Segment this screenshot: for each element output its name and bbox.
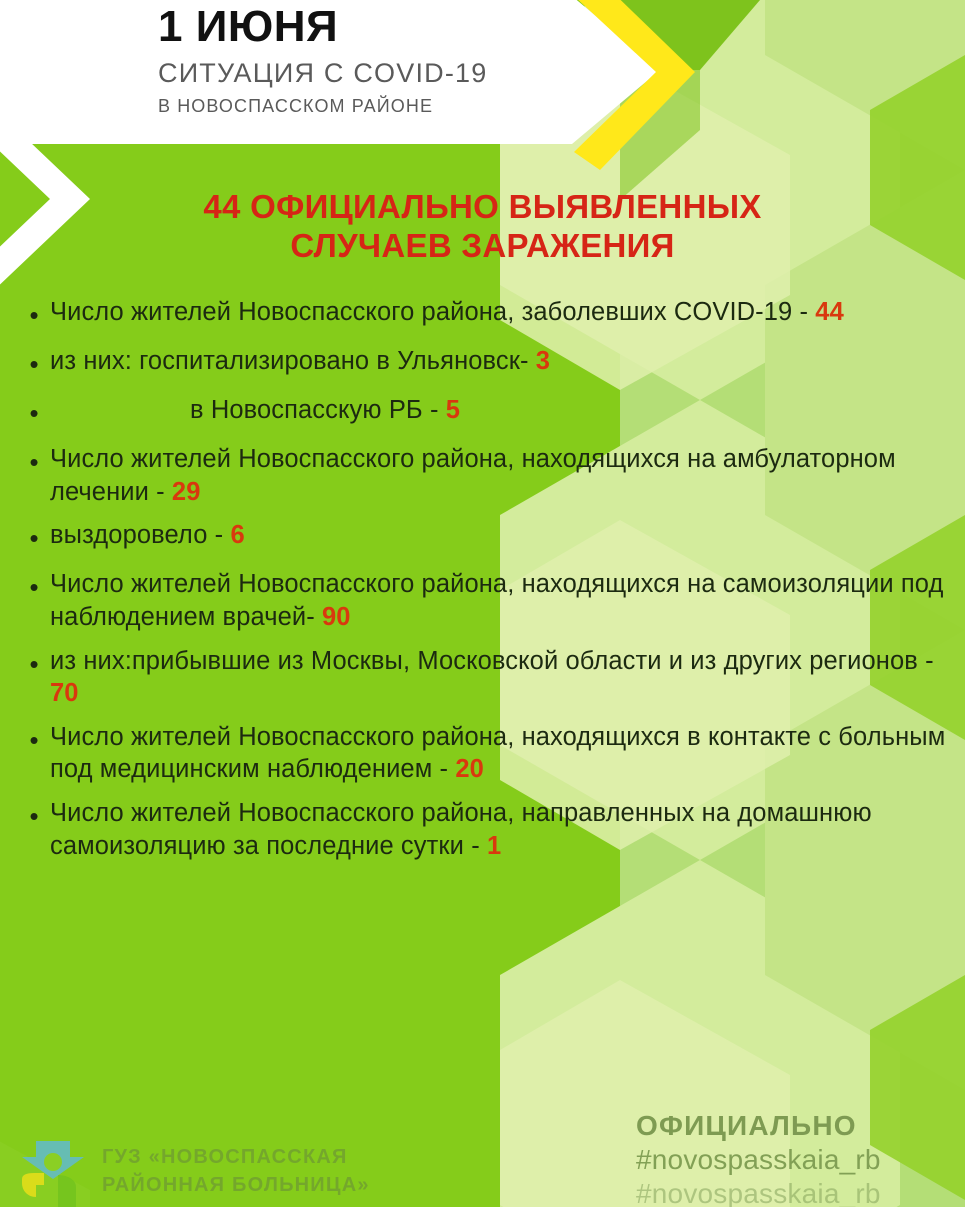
headline-line-1: 44 ОФИЦИАЛЬНО ВЫЯВЛЕННЫХ (203, 188, 761, 225)
bullet-marker-icon: • (18, 296, 50, 334)
list-item-value: 3 (536, 347, 550, 375)
hospital-logo-line-2: РАЙОННАЯ БОЛЬНИЦА» (102, 1171, 370, 1199)
list-item: •Число жителей Новоспасского района, нах… (18, 721, 965, 786)
footer-hashtag-secondary: #novospasskaia_rb (636, 1177, 881, 1207)
footer-hashtag: #novospasskaia_rb (636, 1143, 881, 1177)
footer-official-label: ОФИЦИАЛЬНО (636, 1108, 881, 1143)
list-item-text: Число жителей Новоспасского района, нахо… (50, 443, 965, 508)
list-item: •Число жителей Новоспасского района, заб… (18, 296, 965, 334)
bullet-marker-icon: • (18, 394, 50, 432)
list-item-text: Число жителей Новоспасского района, нахо… (50, 721, 965, 786)
list-item-text: из них: госпитализировано в Ульяновск- 3 (50, 345, 965, 378)
list-item-value: 90 (322, 603, 351, 631)
bullet-marker-icon: • (18, 519, 50, 557)
list-item: •из них: госпитализировано в Ульяновск- … (18, 345, 965, 383)
header-text-block: 1 ИЮНЯ СИТУАЦИЯ С COVID-19 В НОВОСПАССКО… (158, 2, 487, 119)
list-item: • Число жителей Новоспасского района, на… (18, 568, 965, 633)
list-item-text: Число жителей Новоспасского района, напр… (50, 797, 965, 862)
list-item-label: из них: госпитализировано в Ульяновск- (50, 347, 536, 375)
list-item-text: из них:прибывшие из Москвы, Московской о… (50, 645, 965, 710)
list-item-label: Число жителей Новоспасского района, напр… (50, 799, 872, 860)
list-item-value: 5 (446, 396, 460, 424)
list-item-text: в Новоспасскую РБ - 5 (50, 394, 965, 427)
bullet-marker-icon: • (18, 645, 50, 683)
yellow-chevron-icon (570, 0, 710, 170)
list-item-text: Число жителей Новоспасского района, нахо… (50, 568, 965, 633)
headline-line-2: СЛУЧАЕВ ЗАРАЖЕНИЯ (60, 227, 905, 266)
bullet-marker-icon: • (18, 797, 50, 835)
header-subtitle-district: В НОВОСПАССКОМ РАЙОНЕ (158, 94, 487, 119)
list-item-label: Число жителей Новоспасского района, нахо… (50, 723, 945, 784)
list-item-value: 20 (455, 755, 484, 783)
hospital-logo-icon (14, 1135, 92, 1207)
statistics-list: •Число жителей Новоспасского района, заб… (0, 296, 965, 873)
list-item-label: из них:прибывшие из Москвы, Московской о… (50, 647, 934, 675)
list-item-label: выздоровело - (50, 521, 230, 549)
list-item-label: Число жителей Новоспасского района, нахо… (50, 570, 943, 631)
list-item-value: 70 (50, 679, 79, 707)
list-item: •из них:прибывшие из Москвы, Московской … (18, 645, 965, 710)
list-item-label: в Новоспасскую РБ - (190, 396, 446, 424)
hospital-logo: ГУЗ «НОВОСПАССКАЯ РАЙОННАЯ БОЛЬНИЦА» (14, 1135, 370, 1207)
list-item-value: 44 (815, 298, 844, 326)
hospital-logo-text: ГУЗ «НОВОСПАССКАЯ РАЙОННАЯ БОЛЬНИЦА» (102, 1143, 370, 1200)
hospital-logo-line-1: ГУЗ «НОВОСПАССКАЯ (102, 1143, 370, 1171)
list-item: •Число жителей Новоспасского района, нах… (18, 443, 965, 508)
list-item-label: Число жителей Новоспасского района, забо… (50, 298, 815, 326)
list-item-text: выздоровело - 6 (50, 519, 965, 552)
list-item-text: Число жителей Новоспасского района, забо… (50, 296, 965, 329)
bullet-marker-icon: • (18, 443, 50, 481)
list-item-value: 6 (230, 521, 244, 549)
footer-official-block: ОФИЦИАЛЬНО #novospasskaia_rb #novospassk… (636, 1108, 881, 1207)
infographic-poster: 1 ИЮНЯ СИТУАЦИЯ С COVID-19 В НОВОСПАССКО… (0, 0, 965, 1207)
list-item: •в Новоспасскую РБ - 5 (18, 394, 965, 432)
header-date: 1 ИЮНЯ (158, 2, 487, 53)
bullet-marker-icon: • (18, 345, 50, 383)
headline: 44 ОФИЦИАЛЬНО ВЫЯВЛЕННЫХ СЛУЧАЕВ ЗАРАЖЕН… (0, 188, 965, 266)
bullet-marker-icon: • (18, 721, 50, 759)
list-item: •выздоровело - 6 (18, 519, 965, 557)
list-item: • Число жителей Новоспасского района, на… (18, 797, 965, 862)
bullet-marker-icon: • (18, 568, 50, 606)
list-item-value: 29 (172, 478, 201, 506)
header-subtitle-covid: СИТУАЦИЯ С COVID-19 (158, 55, 487, 91)
list-item-value: 1 (487, 832, 501, 860)
